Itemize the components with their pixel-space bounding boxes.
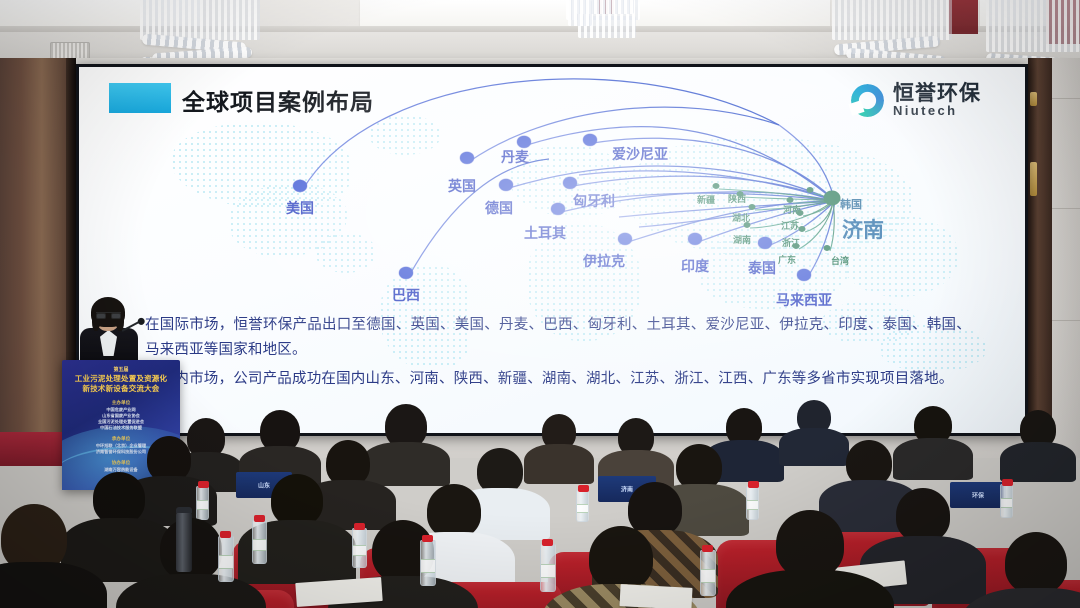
province-label: 陕西 <box>728 192 746 205</box>
city-marker[interactable] <box>399 267 413 279</box>
city-marker[interactable] <box>293 180 307 192</box>
audience-area: 山东 济南 环保 <box>0 400 1080 608</box>
audience-person <box>790 400 838 454</box>
city-marker[interactable] <box>460 152 474 164</box>
province-label: 韩国 <box>840 196 862 212</box>
paragraph-domestic: 在国内市场，公司产品成功在国内山东、河南、陕西、新疆、湖南、湖北、江苏、浙江、江… <box>145 367 971 392</box>
audience-person <box>262 474 332 566</box>
province-marker[interactable] <box>799 226 806 232</box>
province-label: 湖南 <box>733 233 751 246</box>
city-marker[interactable] <box>618 233 632 245</box>
projection-screen[interactable]: 全球项目案例布局 恒誉环保 Niutech 美国巴西英国丹麦德国匈牙利土耳其伊拉… <box>79 67 1025 433</box>
speaker-presenter <box>76 296 146 364</box>
city-marker[interactable] <box>583 134 597 146</box>
water-bottle[interactable] <box>700 550 716 596</box>
water-bottle[interactable] <box>576 490 589 522</box>
water-bottle[interactable] <box>1000 484 1013 518</box>
city-marker[interactable] <box>797 269 811 281</box>
audience-person <box>992 532 1080 608</box>
city-label: 德国 <box>485 198 513 218</box>
glasses-icon <box>96 312 121 318</box>
podium-line-1: 第五届 <box>62 366 180 373</box>
province-marker[interactable] <box>807 187 814 193</box>
city-label: 美国 <box>286 198 314 218</box>
province-marker[interactable] <box>824 245 831 251</box>
city-label: 土耳其 <box>524 223 566 243</box>
city-marker[interactable] <box>688 233 702 245</box>
city-label: 匈牙利 <box>573 191 615 211</box>
chandelier <box>568 0 592 26</box>
thermos-flask[interactable] <box>176 512 192 572</box>
audience-person <box>906 406 960 464</box>
ceiling-curtain <box>948 0 978 34</box>
city-label: 丹麦 <box>501 147 529 167</box>
water-bottle[interactable] <box>252 520 267 564</box>
water-bottle[interactable] <box>746 486 759 520</box>
province-label: 台湾 <box>831 254 849 267</box>
province-label: 江苏 <box>781 219 799 232</box>
right-wood-column <box>1028 58 1052 458</box>
city-label: 英国 <box>448 176 476 196</box>
city-label: 伊拉克 <box>583 251 625 271</box>
province-marker[interactable] <box>744 222 751 228</box>
province-marker[interactable] <box>713 183 720 189</box>
audience-person <box>378 404 434 466</box>
wall-fitting <box>1030 92 1037 106</box>
podium-line-3: 新技术新设备交流大会 <box>62 383 180 394</box>
water-bottle[interactable] <box>540 544 556 592</box>
province-label: 广东 <box>778 253 796 266</box>
audience-person <box>764 510 856 608</box>
audience-person <box>610 418 662 474</box>
water-bottle[interactable] <box>420 540 436 586</box>
hub-label-jinan: 济南 <box>842 214 884 244</box>
projection-screen-frame: 全球项目案例布局 恒誉环保 Niutech 美国巴西英国丹麦德国匈牙利土耳其伊拉… <box>76 64 1028 436</box>
province-label: 新疆 <box>697 193 715 206</box>
right-wall-panel <box>1052 58 1080 458</box>
city-label: 印度 <box>681 256 709 276</box>
city-label: 泰国 <box>748 258 776 278</box>
city-marker[interactable] <box>563 177 577 189</box>
wall-fitting <box>1030 162 1037 196</box>
audience-person <box>534 414 584 470</box>
city-label: 巴西 <box>392 285 420 305</box>
province-marker[interactable] <box>749 204 756 210</box>
province-marker[interactable] <box>797 210 804 216</box>
audience-person <box>1012 410 1064 468</box>
city-label: 爱沙尼亚 <box>612 144 668 164</box>
audience-person <box>84 472 154 564</box>
printed-handout[interactable] <box>619 584 692 608</box>
paragraph-international: 在国际市场，恒誉环保产品出口至德国、英国、美国、丹麦、巴西、匈牙利、土耳其、爱沙… <box>145 313 971 363</box>
water-bottle[interactable] <box>196 486 209 520</box>
audience-person <box>252 410 308 472</box>
city-label: 马来西亚 <box>776 290 832 310</box>
audience-person <box>0 504 86 608</box>
hub-marker-jinan[interactable] <box>824 191 841 206</box>
city-marker[interactable] <box>499 179 513 191</box>
water-bottle[interactable] <box>218 536 234 582</box>
city-marker[interactable] <box>551 203 565 215</box>
city-marker[interactable] <box>758 237 772 249</box>
